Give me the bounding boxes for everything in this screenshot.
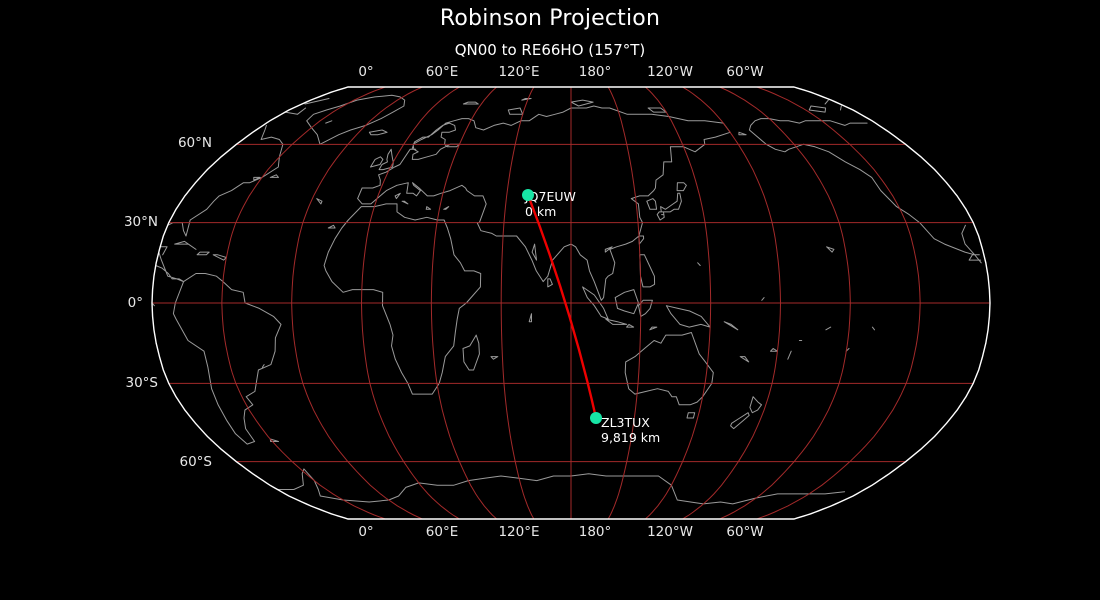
lat-tick-2: 0° — [128, 295, 143, 311]
lon-tick-bottom-3: 180° — [579, 524, 612, 540]
lon-tick-bottom-4: 120°W — [647, 524, 693, 540]
lat-tick-3: 30°S — [126, 375, 159, 391]
lon-tick-bottom-5: 60°W — [726, 524, 763, 540]
lon-tick-top-3: 180° — [579, 64, 612, 80]
lon-tick-bottom-1: 60°E — [426, 524, 458, 540]
lon-tick-top-1: 60°E — [426, 64, 458, 80]
station-distance: 0 km — [525, 204, 576, 219]
station-label-zl3tux: ZL3TUX9,819 km — [601, 415, 660, 445]
map-application: Robinson Projection QN00 to RE66HO (157°… — [0, 0, 1100, 600]
lon-tick-top-0: 0° — [358, 64, 373, 80]
lat-tick-0: 60°N — [178, 135, 212, 151]
station-distance: 9,819 km — [601, 430, 660, 445]
lat-tick-4: 60°S — [180, 454, 213, 470]
lon-tick-bottom-2: 120°E — [498, 524, 539, 540]
lon-tick-top-5: 60°W — [726, 64, 763, 80]
station-marker-zl3tux[interactable] — [590, 412, 602, 424]
station-marker-jq7euw[interactable] — [522, 189, 534, 201]
station-callsign: ZL3TUX — [601, 415, 660, 430]
map-figure — [0, 0, 1100, 600]
lon-tick-top-2: 120°E — [498, 64, 539, 80]
lon-tick-bottom-0: 0° — [358, 524, 373, 540]
lat-tick-1: 30°N — [124, 214, 158, 230]
lon-tick-top-4: 120°W — [647, 64, 693, 80]
robinson-map-svg — [0, 0, 1100, 600]
